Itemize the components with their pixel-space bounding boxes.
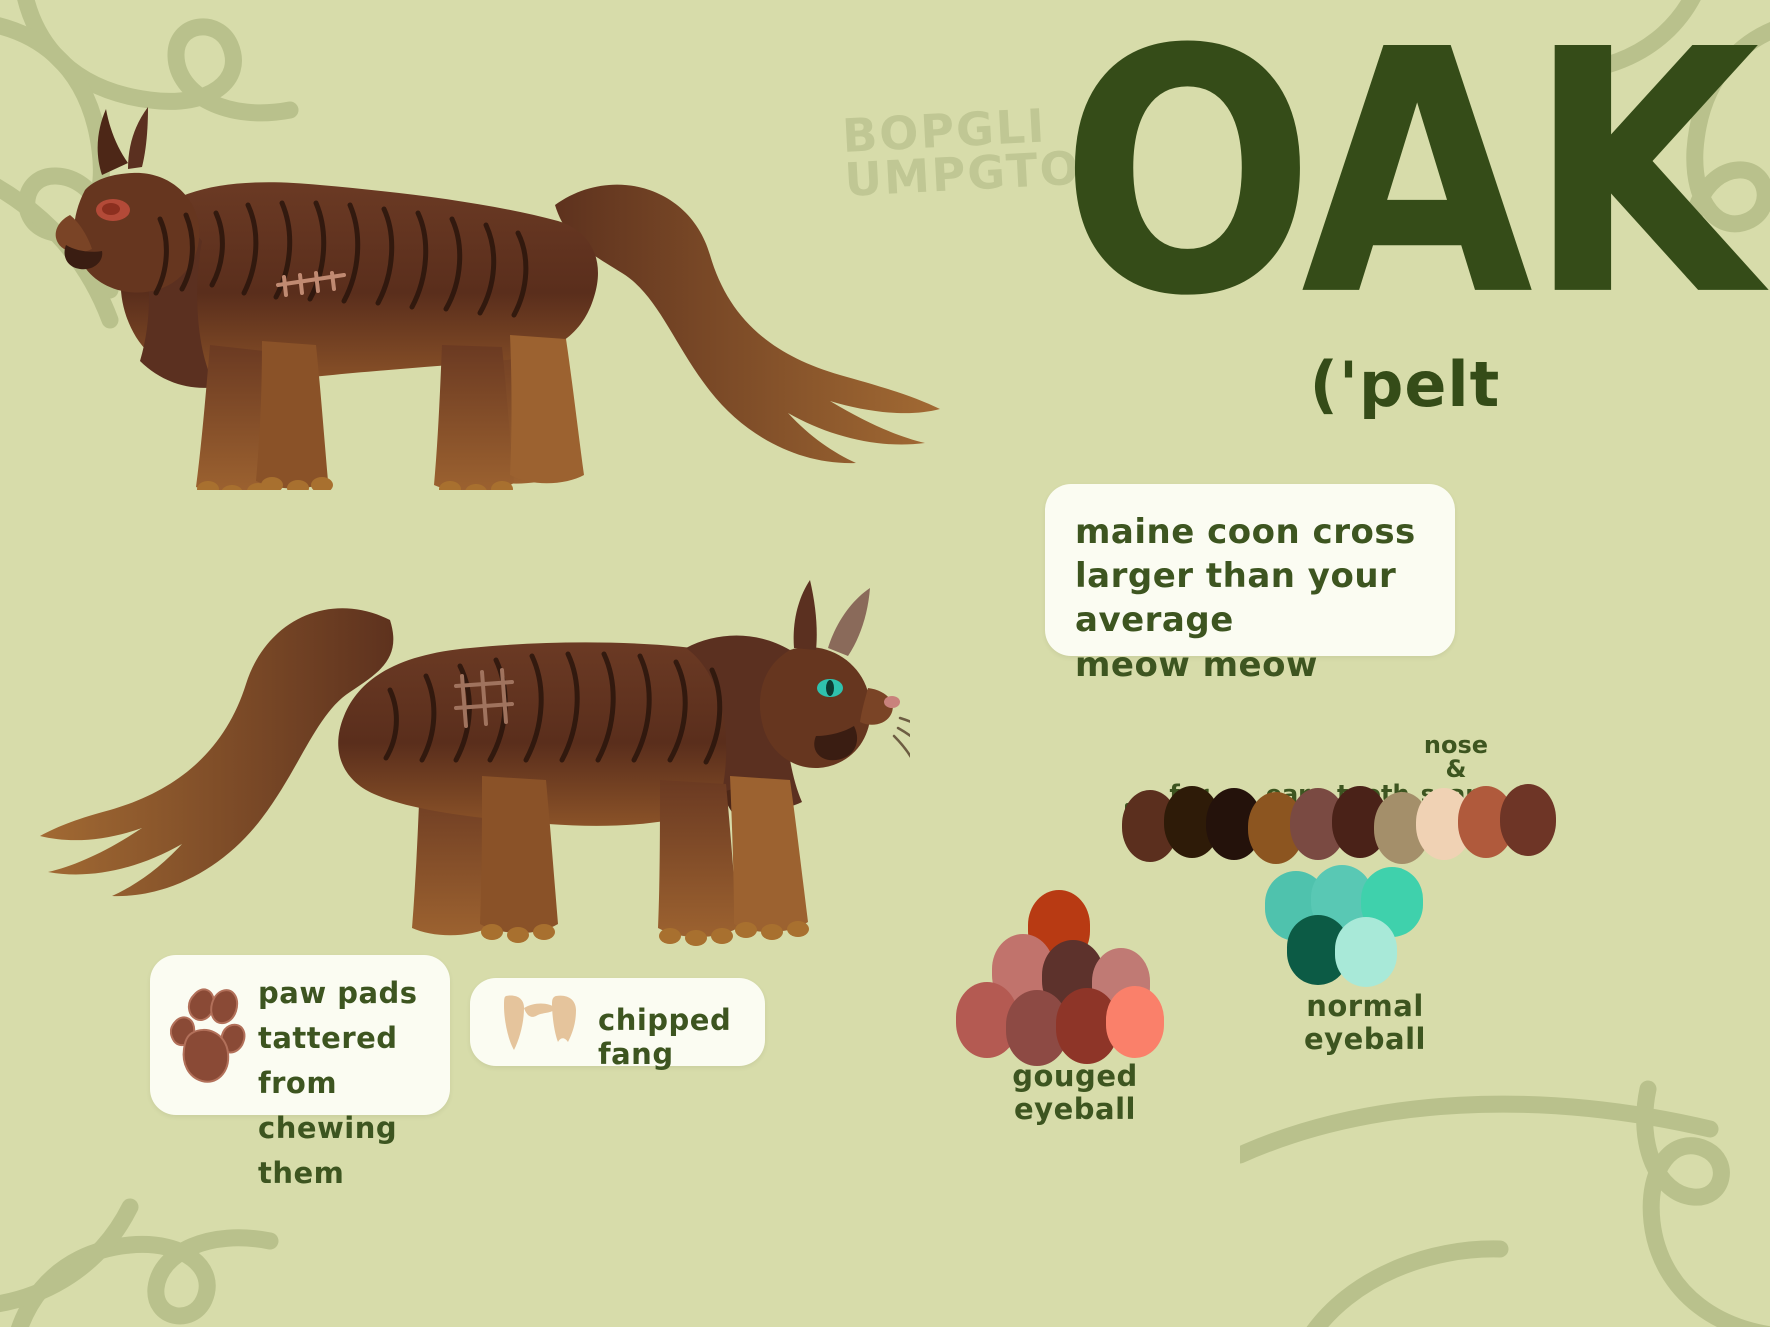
eye-blob[interactable] [1106, 986, 1164, 1058]
palette-swatch[interactable] [1500, 784, 1556, 856]
corner-flourish-bottom-right [1240, 1037, 1770, 1327]
description-line-1: maine coon cross [1075, 510, 1425, 554]
eye-blob[interactable] [1335, 917, 1397, 987]
paw-pads-line-2: tattered from [258, 1016, 450, 1106]
cat-ref-standing-top [10, 45, 970, 490]
paw-pads-line-1: paw pads [258, 971, 450, 1016]
chipped-fang-icon [494, 992, 586, 1054]
description-card: maine coon cross larger than your averag… [1045, 484, 1455, 656]
chipped-fang-card: chipped fang [470, 978, 765, 1066]
description-line-2: larger than your average [1075, 554, 1425, 642]
gouged-eyeball-label: gouged eyeball [960, 1060, 1190, 1127]
paw-pads-icon [170, 977, 250, 1087]
description-line-3: meow meow [1075, 643, 1425, 687]
cat-ref-standing-bottom [30, 480, 910, 950]
normal-eyeball-label-text: normal eyeball [1304, 989, 1426, 1056]
chipped-fang-label: chipped fang [598, 1003, 765, 1071]
reference-sheet: BOPGLI UMPGTO OAK ('pelt [0, 0, 1770, 1327]
paw-pads-line-3: chewing them [258, 1106, 450, 1196]
character-name: OAK [1060, 20, 1750, 329]
paw-pads-card: paw pads tattered from chewing them [150, 955, 450, 1115]
title-block: OAK ('pelt [1060, 20, 1750, 450]
normal-eyeball-label: normal eyeball [1270, 990, 1460, 1057]
